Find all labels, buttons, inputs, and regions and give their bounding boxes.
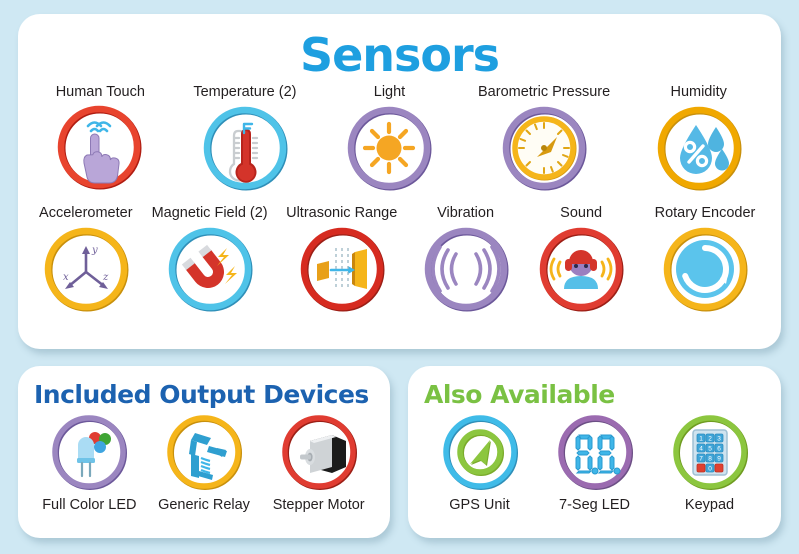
sensors-panel: Sensors Human Touch [18,14,781,349]
rgb-led-icon [50,413,128,491]
seven-segment-icon [556,413,634,491]
available-item-7seg-led[interactable]: 7-Seg LED [537,413,652,513]
barometer-gauge-icon [501,105,587,191]
relay-icon [165,413,243,491]
rotary-arrow-icon [662,226,748,312]
sensors-row-2: Accelerometer y [28,205,771,312]
water-droplets-percent-icon [656,105,742,191]
poster-board: Sensors Human Touch [0,0,799,554]
sensor-item-accelerometer[interactable]: Accelerometer y [28,205,144,312]
svg-text:0: 0 [708,466,712,473]
output-label: Generic Relay [158,497,250,513]
sensors-row-1: Human Touch [28,84,771,191]
output-item-full-color-led[interactable]: Full Color LED [32,413,147,513]
sensor-item-humidity[interactable]: Humidity [629,84,769,191]
also-available-row: GPS Unit [422,413,767,513]
human-touch-icon [57,105,143,191]
sensor-item-magnetic-field[interactable]: Magnetic Field (2) [144,205,276,312]
available-item-keypad[interactable]: 123 456 789 0 Keypad [652,413,767,513]
sensor-item-ultrasonic-range[interactable]: Ultrasonic Range [276,205,408,312]
svg-text:3: 3 [717,436,721,443]
available-label: 7-Seg LED [559,497,630,513]
sensor-label: Accelerometer [39,205,132,221]
sensor-label: Light [374,84,405,100]
available-label: GPS Unit [449,497,509,513]
output-devices-title: Included Output Devices [34,382,376,407]
svg-text:1: 1 [699,436,703,443]
sun-icon [346,105,432,191]
svg-text:7: 7 [699,456,703,463]
sensor-item-rotary-encoder[interactable]: Rotary Encoder [639,205,771,312]
sensor-item-vibration[interactable]: Vibration [408,205,524,312]
page-title: Sensors [28,32,771,78]
svg-text:6: 6 [717,446,721,453]
svg-text:4: 4 [699,446,703,453]
xyz-axes-icon: y x z [43,226,129,312]
svg-text:2: 2 [708,436,712,443]
svg-text:8: 8 [708,456,712,463]
sensor-label: Human Touch [56,84,145,100]
ultrasonic-range-icon [299,226,385,312]
svg-text:z: z [102,272,109,283]
svg-text:5: 5 [708,446,712,453]
thermometer-icon [202,105,288,191]
available-label: Keypad [685,497,734,513]
available-item-gps-unit[interactable]: GPS Unit [422,413,537,513]
output-item-stepper-motor[interactable]: Stepper Motor [261,413,376,513]
output-devices-row: Full Color LED [32,413,376,513]
included-output-devices-panel: Included Output Devices [18,366,390,538]
gps-cursor-icon [441,413,519,491]
also-available-title: Also Available [424,382,767,407]
sensor-label: Sound [560,205,602,221]
svg-text:y: y [91,245,98,256]
sensor-label: Magnetic Field (2) [152,205,268,221]
also-available-panel: Also Available GPS Unit [408,366,781,538]
sensor-label: Barometric Pressure [478,84,610,100]
sensor-label: Ultrasonic Range [286,205,397,221]
sensor-label: Temperature (2) [193,84,296,100]
output-item-generic-relay[interactable]: Generic Relay [147,413,262,513]
output-label: Stepper Motor [273,497,365,513]
sensor-item-temperature[interactable]: Temperature (2) [175,84,315,191]
keypad-icon: 123 456 789 0 [671,413,749,491]
sensor-label: Rotary Encoder [655,205,756,221]
sensor-item-light[interactable]: Light [319,84,459,191]
sensor-label: Humidity [670,84,726,100]
sensor-item-human-touch[interactable]: Human Touch [30,84,170,191]
sensor-label: Vibration [437,205,494,221]
stepper-motor-icon [280,413,358,491]
sensor-item-sound[interactable]: Sound [523,205,639,312]
sensor-item-barometric-pressure[interactable]: Barometric Pressure [464,84,624,191]
svg-text:x: x [63,272,69,283]
vibration-waves-icon [423,226,509,312]
output-label: Full Color LED [42,497,136,513]
svg-text:9: 9 [717,456,721,463]
sound-headphones-icon [538,226,624,312]
magnet-icon [167,226,253,312]
